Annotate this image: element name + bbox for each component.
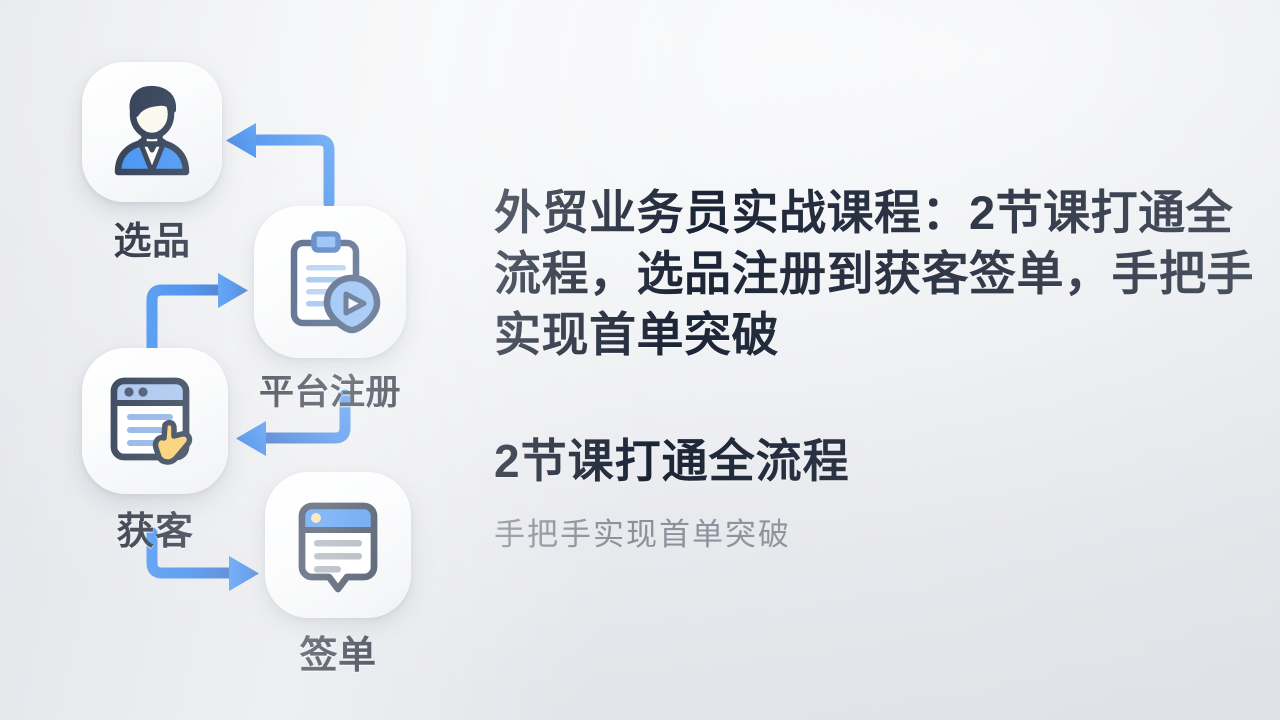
flow-node-huoke[interactable]: 获客	[82, 348, 228, 555]
flow-node-label-xuanpin: 选品	[82, 210, 222, 265]
browser-hand-cursor-icon	[102, 368, 208, 474]
flow-node-label-qiandan: 签单	[265, 624, 411, 679]
flow-node-label-huoke: 获客	[82, 500, 228, 555]
tagline: 手把手实现首单突破	[494, 509, 1254, 554]
clipboard-location-icon	[274, 226, 386, 338]
tile-pingtai	[254, 206, 406, 358]
copy-column: 外贸业务员实战课程：2节课打通全流程，选品注册到获客签单，手把手实现首单突破 2…	[494, 182, 1254, 554]
flow-node-pingtai[interactable]: 平台注册	[254, 206, 406, 415]
tile-huoke	[82, 348, 228, 494]
workflow-diagram: 选品	[0, 0, 470, 720]
tile-xuanpin	[82, 62, 222, 202]
businessman-icon	[100, 80, 204, 184]
headline: 外贸业务员实战课程：2节课打通全流程，选品注册到获客签单，手把手实现首单突破	[494, 182, 1254, 365]
arrow-huoke-to-pingtai	[152, 273, 248, 348]
speech-bubble-card-icon	[285, 492, 391, 598]
tile-qiandan	[265, 472, 411, 618]
flow-node-qiandan[interactable]: 签单	[265, 472, 411, 679]
promo-card: 选品	[0, 0, 1280, 720]
flow-node-xuanpin[interactable]: 选品	[82, 62, 222, 265]
flow-node-label-pingtai: 平台注册	[254, 364, 406, 415]
arrow-pingtai-to-xuanpin	[226, 123, 329, 203]
subheadline: 2节课打通全流程	[494, 425, 1254, 491]
